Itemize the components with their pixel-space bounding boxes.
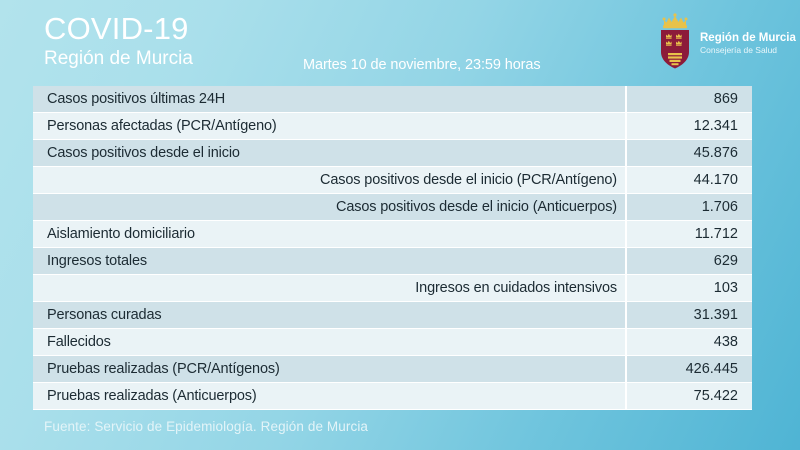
region-de-murcia-logo: Región de Murcia Consejería de Salud [657, 12, 796, 70]
row-label: Pruebas realizadas (PCR/Antígenos) [33, 361, 625, 377]
table-row: Ingresos en cuidados intensivos103 [33, 275, 752, 302]
row-value: 1.706 [625, 199, 752, 215]
table-row: Pruebas realizadas (Anticuerpos)75.422 [33, 383, 752, 410]
row-label: Casos positivos desde el inicio [33, 145, 625, 161]
row-value: 12.341 [625, 118, 752, 134]
row-label: Fallecidos [33, 334, 625, 350]
report-timestamp: Martes 10 de noviembre, 23:59 horas [303, 57, 541, 73]
row-value: 11.712 [625, 226, 752, 242]
table-row: Ingresos totales629 [33, 248, 752, 275]
table-row: Personas curadas31.391 [33, 302, 752, 329]
table-row: Casos positivos desde el inicio (Anticue… [33, 194, 752, 221]
row-value: 438 [625, 334, 752, 350]
table-row: Casos positivos últimas 24H869 [33, 86, 752, 113]
row-label: Casos positivos desde el inicio (Anticue… [33, 199, 625, 215]
row-value: 45.876 [625, 145, 752, 161]
statistics-table: Casos positivos últimas 24H869Personas a… [33, 86, 752, 410]
row-value: 426.445 [625, 361, 752, 377]
row-value: 629 [625, 253, 752, 269]
row-label: Ingresos en cuidados intensivos [33, 280, 625, 296]
row-label: Pruebas realizadas (Anticuerpos) [33, 388, 625, 404]
logo-text: Región de Murcia Consejería de Salud [700, 26, 796, 56]
row-value: 75.422 [625, 388, 752, 404]
header: COVID-19 Región de Murcia Martes 10 de n… [0, 0, 800, 86]
row-value: 869 [625, 91, 752, 107]
crowned-shield-icon [657, 12, 693, 70]
row-label: Aislamiento domiciliario [33, 226, 625, 242]
table-row: Personas afectadas (PCR/Antígeno)12.341 [33, 113, 752, 140]
row-label: Personas curadas [33, 307, 625, 323]
row-label: Casos positivos últimas 24H [33, 91, 625, 107]
title-block: COVID-19 Región de Murcia [44, 12, 193, 70]
footer-source: Fuente: Servicio de Epidemiología. Regió… [44, 419, 368, 434]
row-label: Personas afectadas (PCR/Antígeno) [33, 118, 625, 134]
table-row: Casos positivos desde el inicio45.876 [33, 140, 752, 167]
row-label: Ingresos totales [33, 253, 625, 269]
logo-org-name: Región de Murcia [700, 32, 796, 45]
table-row: Pruebas realizadas (PCR/Antígenos)426.44… [33, 356, 752, 383]
page-title: COVID-19 [44, 12, 193, 46]
row-value: 44.170 [625, 172, 752, 188]
covid-dashboard-page: COVID-19 Región de Murcia Martes 10 de n… [0, 0, 800, 450]
table-row: Fallecidos438 [33, 329, 752, 356]
logo-department: Consejería de Salud [700, 45, 796, 56]
row-label: Casos positivos desde el inicio (PCR/Ant… [33, 172, 625, 188]
row-value: 103 [625, 280, 752, 296]
table-row: Casos positivos desde el inicio (PCR/Ant… [33, 167, 752, 194]
page-subtitle: Región de Murcia [44, 47, 193, 70]
table-row: Aislamiento domiciliario11.712 [33, 221, 752, 248]
row-value: 31.391 [625, 307, 752, 323]
